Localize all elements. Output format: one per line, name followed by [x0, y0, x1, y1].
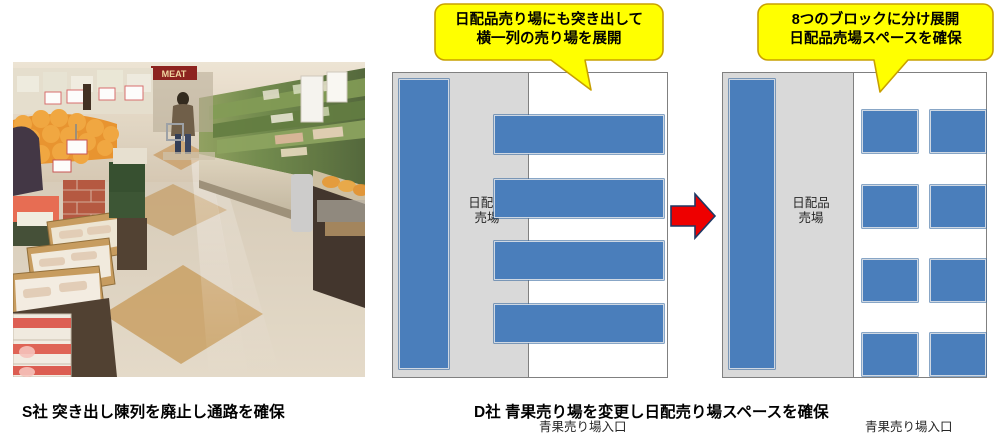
- display-block-8: [930, 333, 986, 376]
- supermarket-produce-aisle-photo: MEAT: [13, 62, 365, 377]
- display-block-5: [862, 259, 918, 302]
- protruding-display-1: [494, 115, 664, 154]
- zone-label-after: 日配品 売場: [769, 196, 853, 226]
- protruding-display-2: [494, 179, 664, 218]
- diagram-before: 日配品 売場 青果売り場入口: [392, 72, 668, 378]
- diagram-after: 日配品 売場 青果売り場入口: [722, 72, 987, 378]
- caption-left: S社 突き出し陳列を廃止し通路を確保: [22, 400, 285, 422]
- display-block-6: [930, 259, 986, 302]
- display-block-1: [862, 110, 918, 153]
- protruding-display-4: [494, 304, 664, 343]
- callout-right: 8つのブロックに分け展開 日配品売場スペースを確保: [756, 2, 995, 94]
- side-shelf-bar-before: [399, 79, 449, 369]
- protruding-display-3: [494, 241, 664, 280]
- callout-left: 日配品売り場にも突き出して 横一列の売り場を展開: [433, 2, 665, 94]
- display-block-2: [930, 110, 986, 153]
- right-arrow-icon: [669, 190, 717, 242]
- display-block-7: [862, 333, 918, 376]
- entrance-label-after: 青果売り場入口: [865, 416, 953, 435]
- slide-canvas: MEAT: [0, 0, 1000, 431]
- caption-right: D社 青果売り場を変更し日配売り場スペースを確保: [474, 400, 829, 422]
- display-block-3: [862, 185, 918, 228]
- display-block-4: [930, 185, 986, 228]
